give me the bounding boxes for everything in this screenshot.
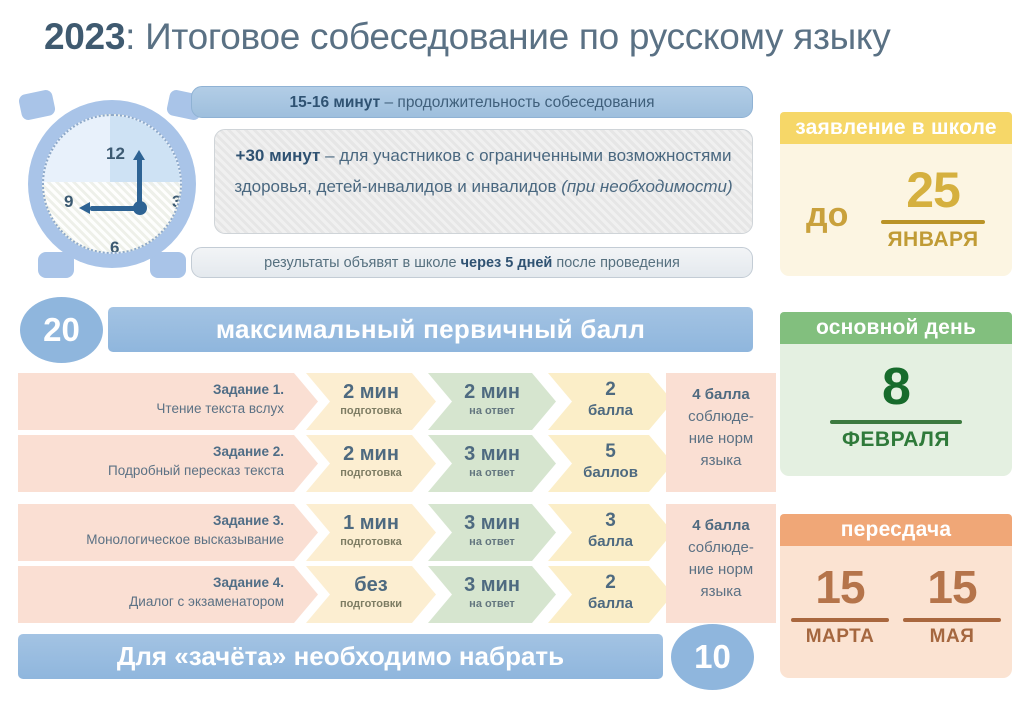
prep-cell: 2 мин подготовка (306, 373, 436, 430)
table-row: Задание 3. Монологическое высказывание 1… (18, 504, 758, 561)
norm-line1: соблюде- (666, 406, 776, 428)
table-row: Задание 2. Подробный пересказ текста 2 м… (18, 435, 758, 492)
prep-label: подготовка (306, 535, 436, 550)
calendar-divider (881, 220, 985, 224)
page-title: 2023: Итоговое собеседование по русскому… (44, 12, 1004, 62)
title-rest: : Итоговое собеседование по русскому язы… (125, 16, 890, 57)
clock-number-9: 9 (64, 192, 73, 212)
answer-value: 3 мин (428, 442, 556, 466)
calendar-date-left: 15 МАРТА (784, 558, 896, 648)
task-cell: Задание 3. Монологическое высказывание (18, 504, 318, 561)
pass-score-banner: Для «зачёта» необходимо набрать (18, 634, 663, 679)
infographic-canvas: 2023: Итоговое собеседование по русскому… (0, 0, 1024, 705)
extra-time-box: +30 минут – для участников с ограниченны… (214, 129, 753, 234)
norm-cell: 4 балла соблюде- ние норм языка (666, 504, 776, 623)
score-cell: 2 балла (548, 373, 673, 430)
score-value: 2 (548, 571, 673, 594)
calendar-header: заявление в школе (780, 112, 1012, 144)
results-post: после проведения (552, 255, 680, 271)
task-title: Задание 4. (28, 574, 284, 592)
answer-cell: 3 мин на ответ (428, 435, 556, 492)
norm-line3: языка (666, 581, 776, 603)
calendar-month: МАЯ (896, 626, 1008, 648)
calendar-month: ЯНВАРЯ (878, 228, 988, 252)
answer-label: на ответ (428, 466, 556, 481)
answer-value: 2 мин (428, 380, 556, 404)
score-label: баллов (548, 463, 673, 483)
score-cell: 2 балла (548, 566, 673, 623)
calendar-body: 8 ФЕВРАЛЯ (780, 344, 1012, 476)
prep-value: 2 мин (306, 442, 436, 466)
prep-label: подготовка (306, 404, 436, 419)
norm-line2: ние норм (666, 559, 776, 581)
prep-value: 2 мин (306, 380, 436, 404)
task-cell: Задание 2. Подробный пересказ текста (18, 435, 318, 492)
task-desc: Монологическое высказывание (28, 530, 284, 549)
prep-cell: 2 мин подготовка (306, 435, 436, 492)
calendar-month: МАРТА (784, 626, 896, 648)
prep-value: 1 мин (306, 511, 436, 535)
results-strong: через 5 дней (461, 255, 553, 271)
answer-cell: 3 мин на ответ (428, 566, 556, 623)
prep-label: подготовки (306, 597, 436, 612)
calendar-date-right: 15 МАЯ (896, 558, 1008, 648)
score-value: 2 (548, 378, 673, 401)
score-label: балла (548, 532, 673, 552)
calendar-retake: пересдача 15 МАРТА 15 МАЯ (780, 514, 1012, 678)
prep-cell: 1 мин подготовка (306, 504, 436, 561)
prep-cell: без подготовки (306, 566, 436, 623)
calendar-day: 8 (826, 356, 966, 418)
norm-cell: 4 балла соблюде- ние норм языка (666, 373, 776, 492)
task-desc: Диалог с экзаменатором (28, 592, 284, 611)
answer-cell: 3 мин на ответ (428, 504, 556, 561)
answer-value: 3 мин (428, 511, 556, 535)
score-value: 5 (548, 440, 673, 463)
score-label: балла (548, 594, 673, 614)
clock-pivot (133, 201, 147, 215)
clock-face: 12 3 6 9 (42, 114, 182, 254)
duration-strong: 15-16 минут (289, 94, 380, 111)
max-score-badge: 20 (20, 297, 103, 363)
calendar-month: ФЕВРАЛЯ (826, 428, 966, 452)
results-box: результаты объявят в школе через 5 дней … (191, 247, 753, 278)
score-label: балла (548, 401, 673, 421)
calendar-day: 25 (878, 162, 988, 218)
alarm-clock-icon: 12 3 6 9 (16, 86, 208, 286)
calendar-divider (830, 420, 962, 424)
score-cell: 3 балла (548, 504, 673, 561)
table-row: Задание 4. Диалог с экзаменатором без по… (18, 566, 758, 623)
calendar-day: 15 (784, 558, 896, 616)
extra-time-strong: +30 минут (236, 146, 321, 165)
extra-time-italic: (при необходимости) (561, 177, 732, 196)
tasks-table: Задание 1. Чтение текста вслух 2 мин под… (18, 373, 758, 628)
task-cell: Задание 1. Чтение текста вслух (18, 373, 318, 430)
prep-label: подготовка (306, 466, 436, 481)
answer-label: на ответ (428, 597, 556, 612)
task-desc: Подробный пересказ текста (28, 461, 284, 480)
clock-number-6: 6 (110, 238, 119, 254)
score-cell: 5 баллов (548, 435, 673, 492)
pass-score-badge: 10 (671, 624, 754, 690)
prep-value: без (306, 573, 436, 597)
norm-line3: языка (666, 450, 776, 472)
calendar-body: до 25 ЯНВАРЯ (780, 144, 1012, 276)
task-title: Задание 1. (28, 381, 284, 399)
calendar-application: заявление в школе до 25 ЯНВАРЯ (780, 112, 1012, 276)
answer-label: на ответ (428, 404, 556, 419)
calendar-day: 15 (896, 558, 1008, 616)
duration-box: 15-16 минут – продолжительность собеседо… (191, 86, 753, 118)
results-pre: результаты объявят в школе (264, 255, 460, 271)
norm-title: 4 балла (666, 515, 776, 537)
calendar-prefix: до (806, 196, 848, 235)
title-year: 2023 (44, 16, 125, 57)
calendar-body: 15 МАРТА 15 МАЯ (780, 546, 1012, 678)
max-score-banner: максимальный первичный балл (108, 307, 753, 352)
answer-value: 3 мин (428, 573, 556, 597)
clock-number-12: 12 (106, 144, 125, 164)
duration-rest: – продолжительность собеседования (380, 94, 654, 111)
norm-line2: ние норм (666, 428, 776, 450)
answer-cell: 2 мин на ответ (428, 373, 556, 430)
score-value: 3 (548, 509, 673, 532)
calendar-header: пересдача (780, 514, 1012, 546)
task-title: Задание 3. (28, 512, 284, 530)
task-title: Задание 2. (28, 443, 284, 461)
table-row: Задание 1. Чтение текста вслух 2 мин под… (18, 373, 758, 430)
task-cell: Задание 4. Диалог с экзаменатором (18, 566, 318, 623)
calendar-date: 8 ФЕВРАЛЯ (826, 356, 966, 452)
calendar-divider (791, 618, 889, 622)
task-desc: Чтение текста вслух (28, 399, 284, 418)
calendar-divider (903, 618, 1001, 622)
norm-title: 4 балла (666, 384, 776, 406)
calendar-date: 25 ЯНВАРЯ (878, 162, 988, 252)
clock-bell-left (18, 89, 57, 122)
norm-line1: соблюде- (666, 537, 776, 559)
answer-label: на ответ (428, 535, 556, 550)
calendar-main-day: основной день 8 ФЕВРАЛЯ (780, 312, 1012, 476)
calendar-header: основной день (780, 312, 1012, 344)
